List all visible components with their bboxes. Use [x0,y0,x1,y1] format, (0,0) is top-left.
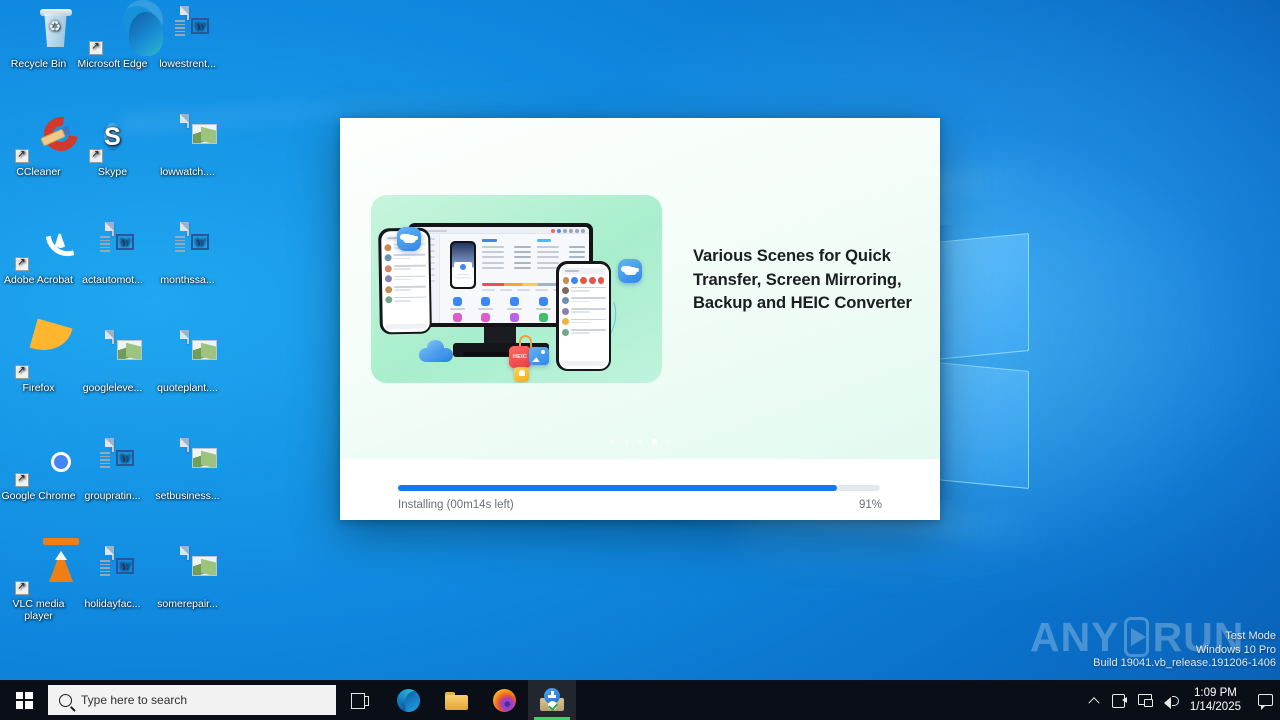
image-document-icon [164,116,212,164]
desktop-icon-lowwatch[interactable]: lowwatch.... [150,116,225,179]
cloud-badge-icon [397,227,421,251]
microsoft-edge-icon [397,689,420,712]
microsoft-edge-icon [89,8,137,56]
word-document-icon: W [164,224,212,272]
desktop-icon-firefox[interactable]: Firefox [1,332,76,395]
desktop-icon-label: lowwatch.... [150,167,225,179]
file-explorer-icon [445,691,468,710]
desktop-icon-label: Firefox [1,383,76,395]
desktop-icon-ccleaner[interactable]: CCleaner [1,116,76,179]
photo-badge-icon [529,347,549,365]
network-icon[interactable] [1133,680,1159,720]
bell-badge-icon [514,367,529,382]
taskbar: Type here to search 1:09 PM 1/14/2025 [0,680,1280,720]
desktop-icon-label: VLC media player [1,599,76,622]
desktop-icon-groupratin[interactable]: W groupratin... [75,440,150,503]
image-document-icon [89,332,137,380]
ccleaner-icon [15,116,63,164]
test-mode-line1: Test Mode [1093,630,1276,644]
right-phone-illustration [556,261,611,371]
screen-capture-icon[interactable] [1107,680,1133,720]
desktop-icon-somerepair[interactable]: somerepair... [150,548,225,611]
feature-illustration: HEIC [371,195,662,383]
desktop-icon-label: somerepair... [150,599,225,611]
adobe-acrobat-icon [15,224,63,272]
carousel-dot[interactable] [610,439,615,444]
word-document-icon: W [89,440,137,488]
heic-badge-icon: HEIC [509,346,531,368]
image-document-icon [164,548,212,596]
notification-center-button[interactable] [1250,680,1280,720]
desktop-icon-setbusiness[interactable]: setbusiness... [150,440,225,503]
phone-preview-mockup [450,241,476,289]
firefox-icon [15,332,63,380]
test-mode-line3: Build 19041.vb_release.191206-1406 [1093,657,1276,671]
desktop-icon-google-chrome[interactable]: Google Chrome [1,440,76,503]
word-document-icon: W [89,548,137,596]
desktop-icon-adobe-acrobat[interactable]: Adobe Acrobat [1,224,76,287]
desktop-icon-label: CCleaner [1,167,76,179]
installer-window[interactable]: HEIC Various Scenes for Quick Transfer, … [340,118,940,520]
desktop-icon-label: monthssa... [150,275,225,287]
desktop-icon-label: actautomot... [75,275,150,287]
taskbar-item-edge[interactable] [384,680,432,720]
app-titlebar [412,227,589,234]
task-view-icon [351,693,369,707]
image-document-icon [164,332,212,380]
desktop-icon-label: googleleve... [75,383,150,395]
cloud-icon [419,340,453,362]
installer-icon [540,688,564,712]
windows-logo-icon [16,692,33,709]
skype-icon: S [89,116,137,164]
search-icon [59,694,72,707]
progress-bar-track [398,485,880,491]
desktop-icon-holidayfac[interactable]: W holidayfac... [75,548,150,611]
cloud-badge-icon [618,259,642,283]
desktop-icon-label: Microsoft Edge [75,59,150,71]
desktop-icon-skype[interactable]: S Skype [75,116,150,179]
desktop-icon-actautomot[interactable]: W actautomot... [75,224,150,287]
task-view-button[interactable] [336,680,384,720]
carousel-dot[interactable] [666,439,671,444]
desktop-icon-vlc-media-player[interactable]: VLC media player [1,548,76,622]
desktop-icon-label: groupratin... [75,491,150,503]
system-tray: 1:09 PM 1/14/2025 [1081,680,1280,720]
word-document-icon: W [164,8,212,56]
recycle-bin-icon: ♻ [15,8,63,56]
desktop-icon-recycle-bin[interactable]: ♻ Recycle Bin [1,8,76,71]
taskbar-item-file-explorer[interactable] [432,680,480,720]
install-status-text: Installing (00m14s left) [398,499,514,511]
desktop-icon-label: Recycle Bin [1,59,76,71]
desktop-icon-label: quoteplant.... [150,383,225,395]
image-document-icon [164,440,212,488]
desktop-icon-label: Google Chrome [1,491,76,503]
search-placeholder: Type here to search [81,693,187,707]
carousel-dot[interactable] [638,439,643,444]
clock-time: 1:09 PM [1190,686,1241,700]
taskbar-item-firefox[interactable] [480,680,528,720]
desktop-icon-quoteplant[interactable]: quoteplant.... [150,332,225,395]
taskbar-item-installer[interactable] [528,680,576,720]
app-window-controls [551,229,585,233]
taskbar-search-input[interactable]: Type here to search [48,685,336,715]
progress-bar-fill [398,485,837,491]
show-hidden-icons-button[interactable] [1081,680,1107,720]
install-percent-label: 91% [859,499,882,511]
carousel-dot[interactable] [624,439,629,444]
vlc-media-player-icon [15,548,63,596]
desktop-icon-label: Skype [75,167,150,179]
start-button[interactable] [0,680,48,720]
desktop-icon-label: lowestrent... [150,59,225,71]
clock-date: 1/14/2025 [1190,700,1241,714]
desktop-icon-microsoft-edge[interactable]: Microsoft Edge [75,8,150,71]
firefox-icon [493,689,516,712]
installer-footer: Installing (00m14s left) 91% [340,459,940,520]
test-mode-line2: Windows 10 Pro [1093,644,1276,658]
google-chrome-icon [15,440,63,488]
desktop-icon-grid: ♻ Recycle Bin Microsoft Edge W lowestren… [0,0,240,660]
carousel-dot-active[interactable] [652,439,657,444]
windows-test-mode-watermark: Test Mode Windows 10 Pro Build 19041.vb_… [1093,630,1276,671]
desktop-icon-googleleve[interactable]: googleleve... [75,332,150,395]
word-document-icon: W [89,224,137,272]
taskbar-clock[interactable]: 1:09 PM 1/14/2025 [1185,686,1250,714]
desktop-icon-label: Adobe Acrobat [1,275,76,287]
feature-headline: Various Scenes for Quick Transfer, Scree… [693,244,915,315]
volume-icon[interactable] [1159,680,1185,720]
installer-hero-section: HEIC Various Scenes for Quick Transfer, … [340,118,940,458]
desktop-icon-monthssa[interactable]: W monthssa... [150,224,225,287]
carousel-indicator[interactable] [340,439,940,444]
desktop-icon-label: setbusiness... [150,491,225,503]
desktop-icon-label: holidayfac... [75,599,150,611]
